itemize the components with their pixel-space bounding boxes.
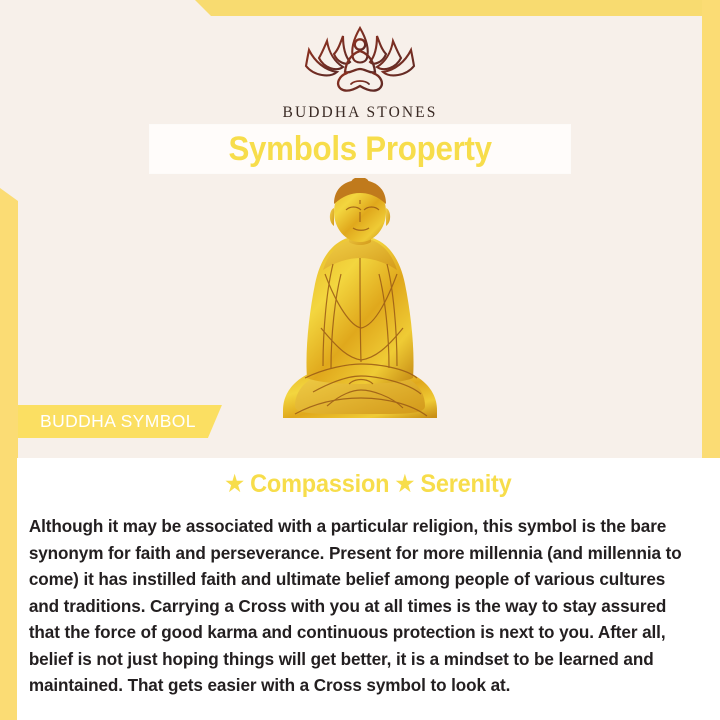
content-paragraph: Although it may be associated with a par… (17, 499, 709, 699)
buddha-symbol-tag-label: BUDDHA SYMBOL (40, 411, 196, 432)
title-banner: Symbols Property (150, 125, 570, 173)
star-icon-left: ★ (225, 471, 243, 496)
lotus-meditation-icon (285, 22, 435, 100)
star-icon-right: ★ (396, 471, 414, 496)
subheading-word-serenity: Serenity (420, 470, 511, 498)
content-subheading: ★ Compassion ★ Serenity (38, 458, 699, 499)
content-card: ★ Compassion ★ Serenity Although it may … (17, 458, 720, 720)
decorative-band-top (195, 0, 720, 16)
brand-logo: BUDDHA STONES (0, 22, 720, 122)
subheading-word-compassion: Compassion (250, 470, 389, 498)
buddha-symbol-tag: BUDDHA SYMBOL (18, 405, 222, 438)
brand-wordmark: BUDDHA STONES (283, 104, 438, 122)
decorative-band-left (0, 188, 18, 720)
page-title: Symbols Property (228, 130, 491, 169)
infographic-page: BUDDHA STONES Symbols Property (0, 0, 720, 720)
golden-seated-buddha-illustration (265, 178, 455, 418)
